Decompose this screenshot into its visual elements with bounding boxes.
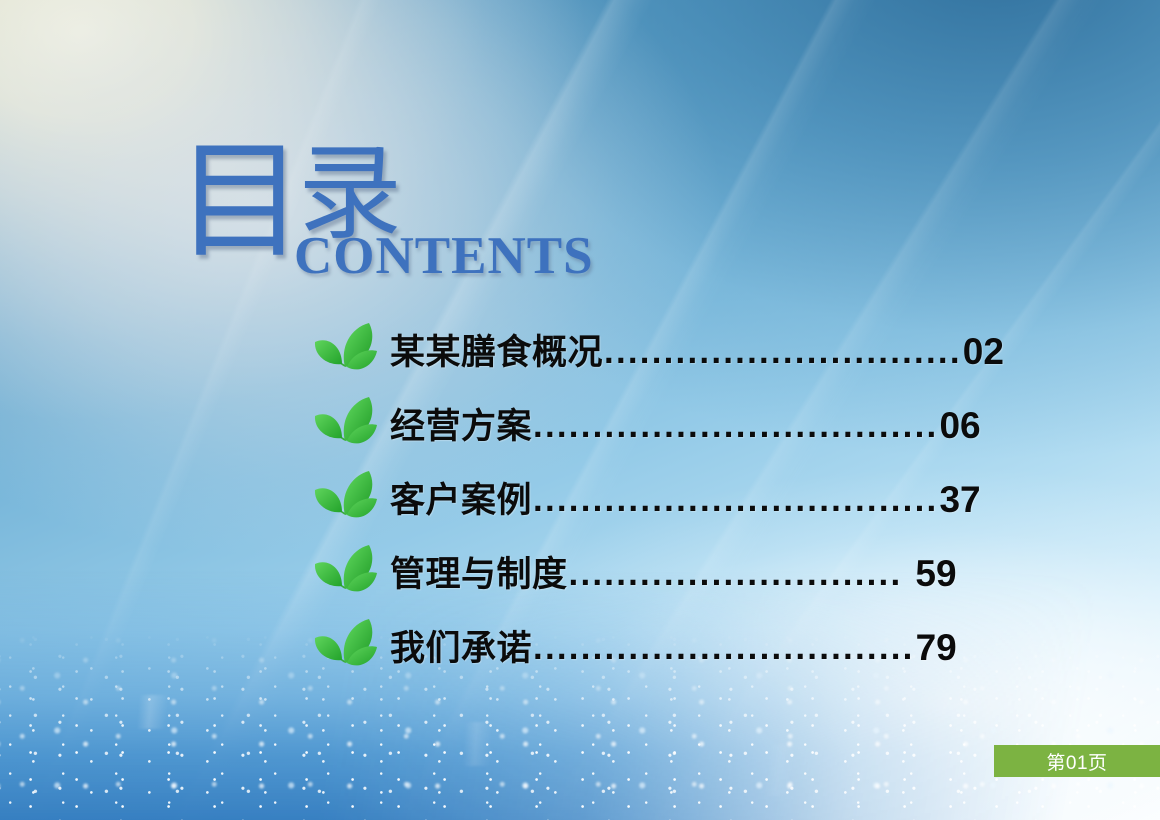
list-item-page: 79 (916, 627, 957, 669)
dot-leader: .............................. (604, 332, 962, 372)
list-item-text: 客户案例 .................................. … (390, 472, 981, 523)
list-item[interactable]: 我们承诺 ................................ 79 (312, 608, 952, 682)
list-item-label: 我们承诺 (390, 620, 532, 671)
title-english: CONTENTS (294, 226, 594, 286)
leaf-icon (312, 468, 378, 526)
dot-leader: ................................ (533, 628, 915, 668)
list-item-text: 经营方案 .................................. … (390, 398, 981, 449)
dot-leader: .................................. (533, 480, 938, 520)
list-item[interactable]: 客户案例 .................................. … (312, 460, 952, 534)
page-number-badge: 第01页 (994, 745, 1160, 777)
list-item[interactable]: 管理与制度 ............................ 59 (312, 534, 952, 608)
list-item-text: 我们承诺 ................................ 79 (390, 620, 957, 671)
list-item-label: 客户案例 (390, 472, 532, 523)
list-item-page: 06 (939, 405, 980, 447)
list-item-text: 某某膳食概况 .............................. 02 (390, 324, 1004, 375)
leaf-icon (312, 542, 378, 600)
dot-leader: ............................ (569, 554, 903, 594)
slide-canvas: 目录 CONTENTS 某某膳食概况 (0, 0, 1160, 820)
list-item-page: 02 (963, 331, 1004, 373)
leaf-icon (312, 394, 378, 452)
leaf-icon (312, 616, 378, 674)
list-item-page: 37 (939, 479, 980, 521)
list-item-page: 59 (903, 553, 956, 595)
list-item-text: 管理与制度 ............................ 59 (390, 546, 957, 597)
list-item-label: 经营方案 (390, 398, 532, 449)
contents-list: 某某膳食概况 .............................. 02… (312, 312, 952, 682)
title-char-mu: 目 (176, 131, 302, 273)
page-title: 目录 CONTENTS (176, 138, 576, 298)
list-item[interactable]: 经营方案 .................................. … (312, 386, 952, 460)
list-item-label: 管理与制度 (390, 546, 568, 597)
list-item[interactable]: 某某膳食概况 .............................. 02 (312, 312, 952, 386)
dot-leader: .................................. (533, 406, 938, 446)
leaf-icon (312, 320, 378, 378)
list-item-label: 某某膳食概况 (390, 324, 603, 375)
page-number-label: 第01页 (1046, 748, 1107, 775)
